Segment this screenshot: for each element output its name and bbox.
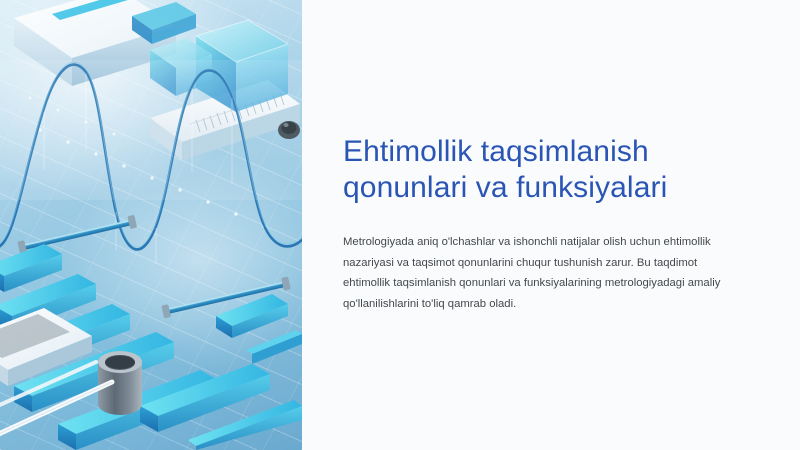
metrology-scene-graphic: [0, 0, 302, 450]
content-panel: Ehtimollik taqsimlanish qonunlari va fun…: [302, 0, 800, 450]
presentation-slide: Ehtimollik taqsimlanish qonunlari va fun…: [0, 0, 800, 450]
page-title: Ehtimollik taqsimlanish qonunlari va fun…: [343, 0, 734, 206]
body-paragraph: Metrologiyada aniq o'lchashlar va ishonc…: [343, 206, 734, 314]
illustration-panel: [0, 0, 302, 450]
